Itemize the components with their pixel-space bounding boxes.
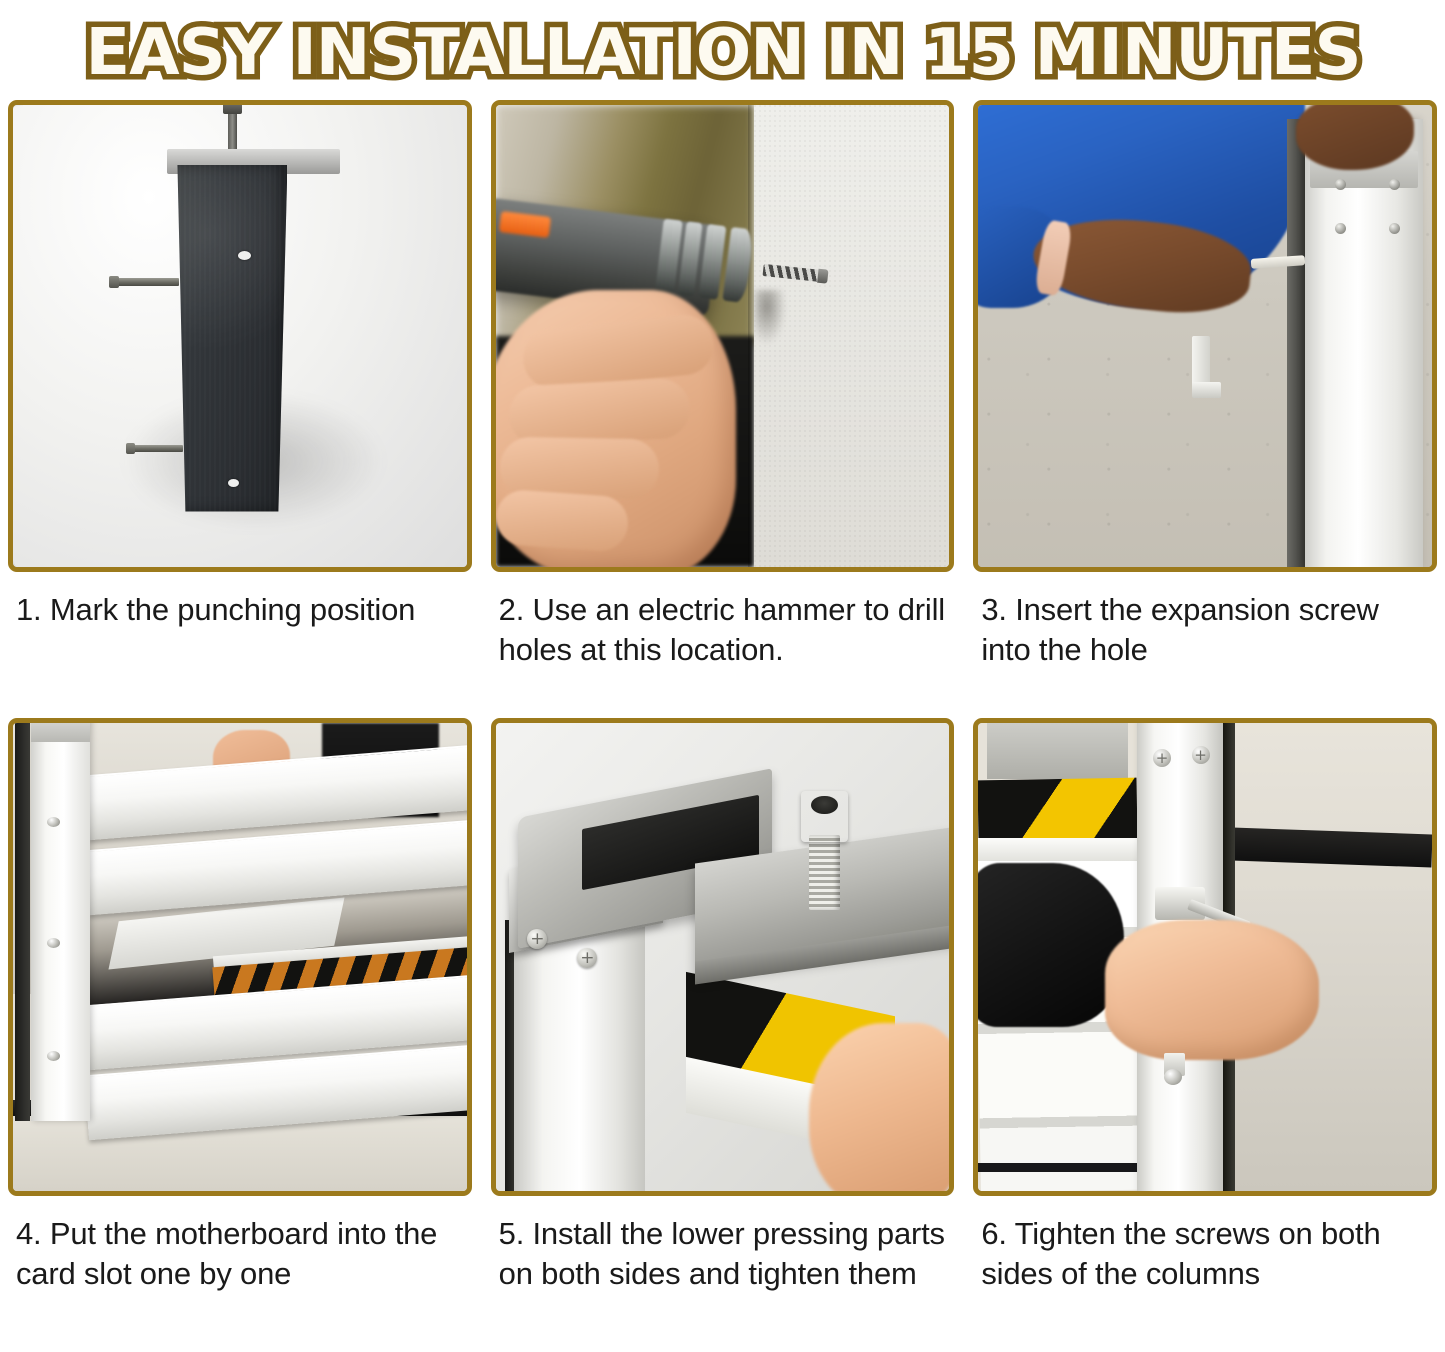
step-card-2: 2. Use an electric hammer to drill holes… [491, 100, 955, 718]
thumb-bolt-shaft [809, 835, 841, 910]
board-bottom-shadow [978, 1163, 1146, 1172]
step-card-4: 4. Put the motherboard into the card slo… [8, 718, 472, 1334]
photo-tighten-screws [978, 723, 1432, 1191]
installer-hand [1105, 920, 1318, 1060]
step-caption-5: 5. Install the lower pressing parts on b… [491, 1196, 955, 1334]
hazard-board-lower-edge [978, 838, 1137, 861]
wall-baseboard [1232, 827, 1432, 867]
steps-row-top: 1. Mark the punching position [0, 100, 1445, 718]
top-stud-icon [228, 112, 237, 154]
hazard-stripe-band [978, 778, 1137, 842]
side-bolt-lower [131, 445, 183, 452]
page-title: EASY INSTALLATION IN 15 MINUTES [85, 16, 1360, 90]
column-screw-2 [1389, 223, 1400, 234]
step-caption-1: 1. Mark the punching position [8, 572, 472, 718]
step-image-3[interactable] [973, 100, 1437, 572]
finger-4 [496, 489, 629, 553]
photo-expansion-screw [978, 105, 1432, 567]
photo-pressing-bracket [496, 723, 950, 1191]
photo-drilling-wall [496, 105, 950, 567]
side-bolt-upper [115, 278, 179, 286]
step-image-5[interactable] [491, 718, 955, 1196]
column-top-plate [31, 723, 90, 742]
column-screw-3 [1335, 179, 1346, 190]
column-screw-1 [47, 817, 60, 827]
photo-bracket-on-cloth [13, 105, 467, 567]
step-caption-2: 2. Use an electric hammer to drill holes… [491, 572, 955, 718]
white-column [31, 723, 90, 1121]
cap-screw-1 [527, 929, 547, 949]
step-image-2[interactable] [491, 100, 955, 572]
column-dark-edge [1287, 119, 1305, 567]
steps-row-bottom: 4. Put the motherboard into the card slo… [0, 718, 1445, 1334]
drill-dust-cloud [754, 290, 786, 345]
step-caption-4: 4. Put the motherboard into the card slo… [8, 1196, 472, 1334]
allen-key-icon [1192, 336, 1210, 396]
header-banner: EASY INSTALLATION IN 15 MINUTES [0, 0, 1445, 100]
column-top-plate [1137, 723, 1223, 765]
cap-screw-2 [577, 948, 597, 968]
mounting-hole-upper [238, 251, 251, 260]
step-image-1[interactable] [8, 100, 472, 572]
installer-black-sleeve [978, 863, 1123, 1027]
step-image-4[interactable] [8, 718, 472, 1196]
step-caption-3: 3. Insert the expansion screw into the h… [973, 572, 1437, 718]
photo-boards-into-slot [13, 723, 467, 1191]
step-caption-6: 6. Tighten the screws on both sides of t… [973, 1196, 1437, 1334]
step-image-6[interactable] [973, 718, 1437, 1196]
column-dark-edge [15, 723, 30, 1121]
step-card-6: 6. Tighten the screws on both sides of t… [973, 718, 1437, 1334]
column-screw-1 [1335, 223, 1346, 234]
background-panel [987, 723, 1128, 779]
bracket-body [174, 165, 287, 512]
top-plate-screw-1 [1153, 749, 1171, 767]
step-card-1: 1. Mark the punching position [8, 100, 472, 718]
column-screw-3 [47, 1051, 60, 1061]
top-plate-screw-2 [1192, 746, 1210, 764]
step-card-5: 5. Install the lower pressing parts on b… [491, 718, 955, 1334]
step-card-3: 3. Insert the expansion screw into the h… [973, 100, 1437, 718]
